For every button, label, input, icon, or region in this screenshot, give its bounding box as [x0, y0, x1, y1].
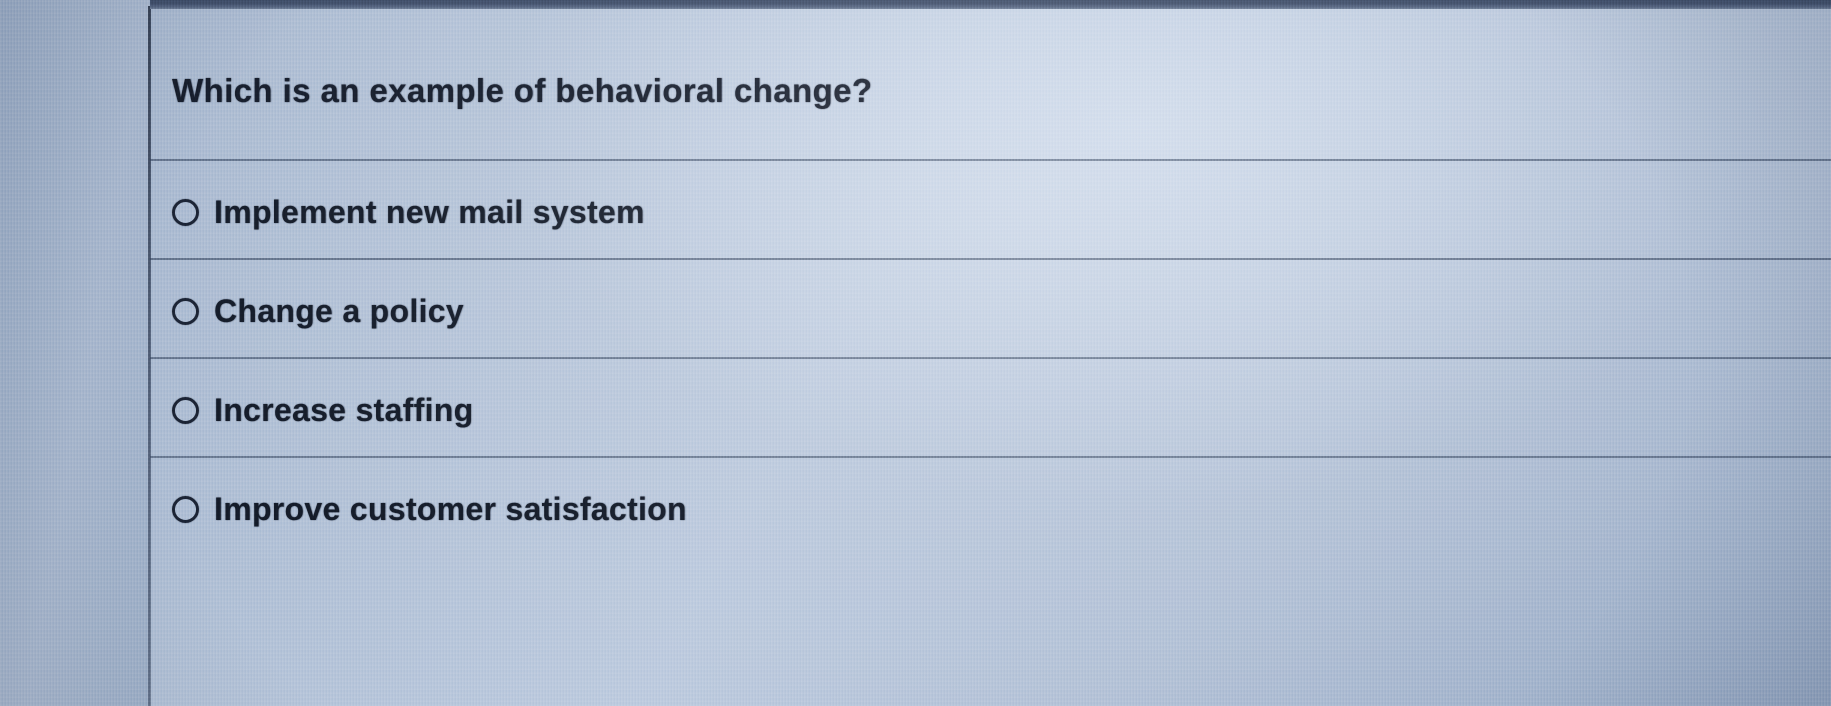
radio-button-icon[interactable]	[172, 397, 199, 424]
option-row[interactable]: Increase staffing	[150, 357, 1831, 456]
options-list: Implement new mail system Change a polic…	[150, 159, 1831, 555]
radio-button-icon[interactable]	[172, 496, 199, 523]
left-gutter	[0, 0, 150, 706]
option-row[interactable]: Improve customer satisfaction	[150, 456, 1831, 555]
option-row[interactable]: Change a policy	[150, 258, 1831, 357]
question-text: Which is an example of behavioral change…	[172, 72, 872, 110]
radio-button-icon[interactable]	[172, 298, 199, 325]
option-label: Increase staffing	[214, 392, 473, 429]
radio-button-icon[interactable]	[172, 199, 199, 226]
option-row[interactable]: Implement new mail system	[150, 159, 1831, 258]
option-label: Implement new mail system	[214, 194, 645, 231]
quiz-screen: Which is an example of behavioral change…	[0, 0, 1831, 706]
option-label: Improve customer satisfaction	[214, 491, 687, 528]
option-label: Change a policy	[214, 293, 464, 330]
top-band	[150, 0, 1831, 9]
question-panel: Which is an example of behavioral change…	[150, 9, 1831, 706]
